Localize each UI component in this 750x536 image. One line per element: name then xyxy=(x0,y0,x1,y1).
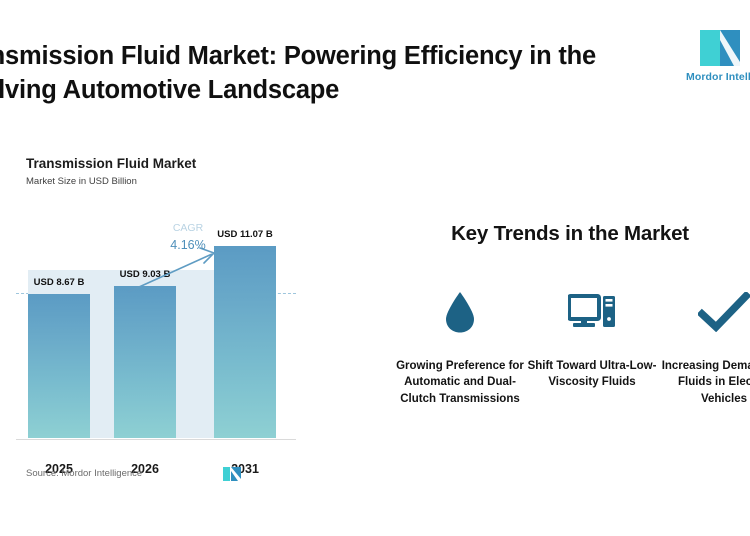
bar-fill-2025[interactable] xyxy=(28,294,90,438)
brand-wordmark: Mordor Intelligence xyxy=(684,71,750,83)
x-axis-line xyxy=(16,439,296,441)
trend-label-2: Shift Toward Ultra-Low-Viscosity Fluids xyxy=(526,358,658,391)
trend-label-3: Increasing Demand for Fluids in Electric… xyxy=(658,358,750,407)
bar-fill-2031[interactable] xyxy=(214,246,276,438)
mordor-logo-icon xyxy=(698,28,744,68)
brand-logo: Mordor Intelligence xyxy=(684,28,750,90)
bar-ghost-gap2 xyxy=(90,270,114,438)
cagr-label: CAGR xyxy=(154,222,222,234)
cagr-value: 4.16% xyxy=(154,238,222,252)
trend-cards: Growing Preference for Automatic and Dua… xyxy=(390,288,750,498)
trends-panel: Key Trends in the Market Growing Prefere… xyxy=(390,118,750,518)
trend-card-1[interactable]: Growing Preference for Automatic and Dua… xyxy=(394,288,526,407)
trend-label-1: Growing Preference for Automatic and Dua… xyxy=(394,358,526,407)
trend-icon-3 xyxy=(658,288,750,336)
trend-icon-1 xyxy=(394,288,526,336)
check-mark-icon xyxy=(698,292,750,332)
trend-card-3[interactable]: Increasing Demand for Fluids in Electric… xyxy=(658,288,750,407)
source-text: Source: Mordor Intelligence xyxy=(26,468,142,479)
page-title: Transmission Fluid Market: Powering Effi… xyxy=(0,40,652,107)
trend-card-2[interactable]: Shift Toward Ultra-Low-Viscosity Fluids xyxy=(526,288,658,391)
header: Transmission Fluid Market: Powering Effi… xyxy=(0,0,750,118)
bar-chart-plot: USD 8.67 B 2025 USD 9.03 B 2026 USD 11.0… xyxy=(16,218,296,450)
chart-title: Transmission Fluid Market xyxy=(26,156,196,171)
bar-fill-2026[interactable] xyxy=(114,286,176,438)
trend-icon-2 xyxy=(526,288,658,336)
mordor-mark-icon xyxy=(222,466,242,482)
water-drop-icon xyxy=(443,290,477,334)
desktop-computer-icon xyxy=(568,292,616,332)
source-row: Source: Mordor Intelligence xyxy=(26,466,276,488)
trends-heading: Key Trends in the Market xyxy=(330,222,750,246)
chart-subtitle: Market Size in USD Billion xyxy=(26,176,137,187)
chart-panel: Transmission Fluid Market Market Size in… xyxy=(0,118,390,518)
bar-ghost-gap xyxy=(176,270,214,438)
